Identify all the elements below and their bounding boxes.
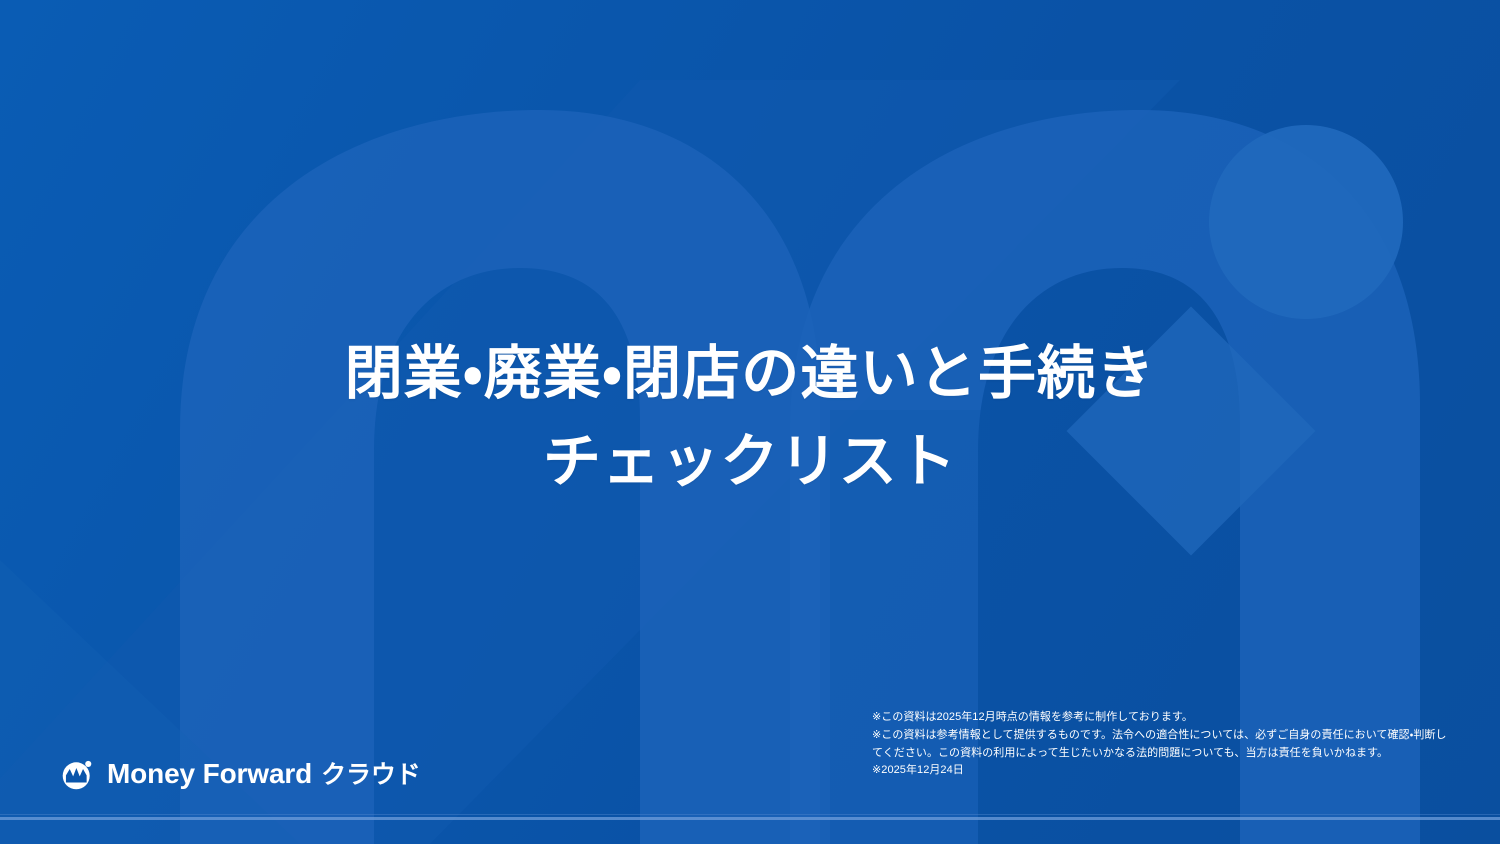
logo-product-text: クラウド bbox=[321, 763, 420, 788]
logo-brand-text: Money Forward bbox=[107, 760, 312, 788]
disclaimer-line-2: ※この資料は参考情報として提供するものです。法令への適合性については、必ずご自身… bbox=[872, 727, 1452, 763]
title-line-1: 閉業・廃業・閉店の違いと手続き bbox=[0, 330, 1500, 418]
disclaimer-line-1: ※この資料は2025年12月時点の情報を参考に制作しております。 bbox=[872, 709, 1452, 727]
page-title: 閉業・廃業・閉店の違いと手続き チェックリスト bbox=[0, 330, 1500, 506]
disclaimer-block: ※この資料は2025年12月時点の情報を参考に制作しております。 ※この資料は参… bbox=[872, 709, 1452, 780]
bottom-rule bbox=[0, 817, 1500, 820]
logo-wordmark-group: Money Forward クラウド bbox=[107, 760, 421, 788]
title-line-2: チェックリスト bbox=[0, 418, 1500, 506]
decorative-circle bbox=[1209, 125, 1403, 319]
brand-logo: Money Forward クラウド bbox=[60, 756, 421, 792]
disclaimer-line-3: ※2025年12月24日 bbox=[872, 762, 1452, 780]
title-slide: 閉業・廃業・閉店の違いと手続き チェックリスト Money Forward クラ… bbox=[0, 0, 1500, 844]
corner-sweep bbox=[0, 560, 300, 844]
money-forward-logo-icon bbox=[60, 756, 96, 792]
bottom-rule-thin bbox=[0, 814, 1500, 815]
